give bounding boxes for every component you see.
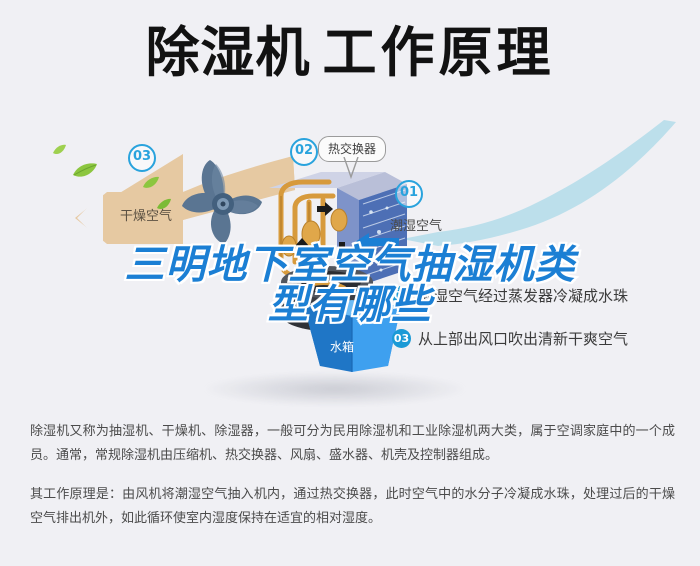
body-paragraph-2: 其工作原理是：由风机将潮湿空气抽入机内，通过热交换器，此时空气中的水分子冷凝成水… — [30, 483, 675, 531]
title-text: 除湿机工作原理 — [146, 26, 555, 80]
heat-exchanger-callout-label: 热交换器 — [328, 142, 376, 156]
step-text: 从上部出风口吹出清新干爽空气 — [418, 328, 628, 349]
airflow-arrow-icon — [355, 232, 399, 252]
water-tank-label: 水箱 — [330, 338, 354, 355]
leaf-icon — [52, 144, 67, 156]
step-list: 02 潮湿空气经过蒸发器冷凝成水珠 03 从上部出风口吹出清新干爽空气 — [392, 284, 692, 370]
body-paragraph-1: 除湿机又称为抽湿机、干燥机、除湿器，一般可分为民用除湿机和工业除湿机两大类，属于… — [30, 420, 675, 468]
step-text: 潮湿空气经过蒸发器冷凝成水珠 — [418, 285, 628, 306]
diagram-badge-01: 01 — [395, 180, 423, 208]
dry-air-label: 干燥空气 — [120, 205, 172, 224]
diagram-badge-03: 03 — [128, 144, 156, 172]
callout-tail-icon — [342, 157, 360, 179]
title-part-2: 工作原理 — [323, 21, 555, 84]
body-copy: 除湿机又称为抽湿机、干燥机、除湿器，一般可分为民用除湿机和工业除湿机两大类，属于… — [30, 420, 675, 546]
step-item: 03 从上部出风口吹出清新干爽空气 — [392, 327, 692, 349]
step-badge: 03 — [392, 329, 411, 348]
infographic-page: 除湿机工作原理 — [0, 0, 700, 566]
title-part-1: 除湿机 — [146, 21, 311, 84]
step-badge: 02 — [392, 286, 411, 305]
page-title: 除湿机工作原理 — [0, 26, 700, 80]
diagram-badge-02: 02 — [290, 138, 318, 166]
leaf-icon — [72, 162, 98, 180]
step-item: 02 潮湿空气经过蒸发器冷凝成水珠 — [392, 284, 692, 306]
leaf-icon — [142, 176, 160, 190]
floor-shadow — [205, 372, 465, 406]
